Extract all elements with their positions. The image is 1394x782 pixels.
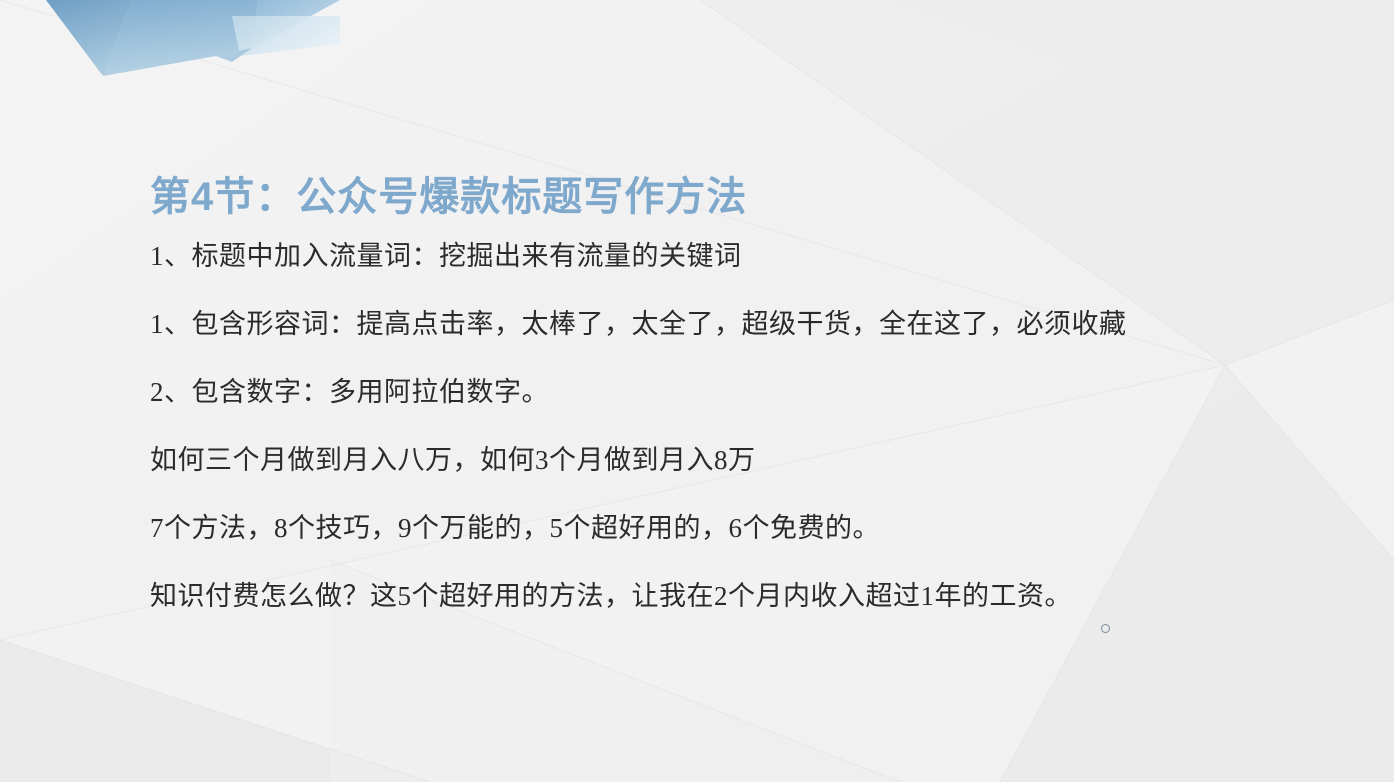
list-item: 7个方法，8个技巧，9个万能的，5个超好用的，6个免费的。	[150, 515, 1350, 542]
slide-body-list: 1、标题中加入流量词：挖掘出来有流量的关键词 1、包含形容词：提高点击率，太棒了…	[150, 243, 1350, 610]
page-title: 第4节：公众号爆款标题写作方法	[150, 173, 747, 221]
slide-content: 第4节：公众号爆款标题写作方法 1、标题中加入流量词：挖掘出来有流量的关键词 1…	[0, 0, 1394, 782]
list-item: 如何三个月做到月入八万，如何3个月做到月入8万	[150, 447, 1350, 474]
list-item: 1、包含形容词：提高点击率，太棒了，太全了，超级干货，全在这了，必须收藏	[150, 311, 1350, 338]
presentation-slide: 第4节：公众号爆款标题写作方法 1、标题中加入流量词：挖掘出来有流量的关键词 1…	[0, 0, 1394, 782]
list-item: 2、包含数字：多用阿拉伯数字。	[150, 379, 1350, 406]
list-item: 知识付费怎么做？这5个超好用的方法，让我在2个月内收入超过1年的工资。	[150, 583, 1350, 610]
small-circle-artifact	[1101, 624, 1110, 633]
list-item: 1、标题中加入流量词：挖掘出来有流量的关键词	[150, 243, 1350, 270]
